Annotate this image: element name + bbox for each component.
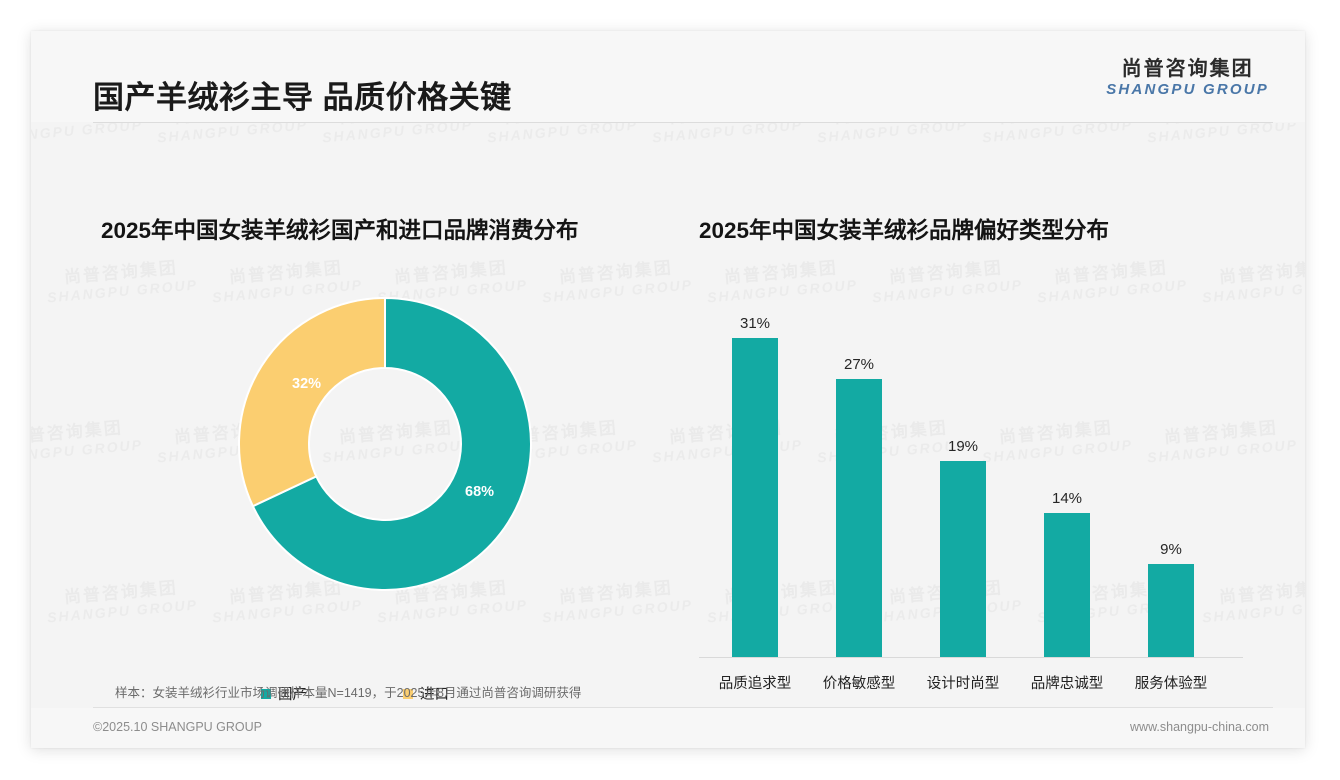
chart-panel-bars: 2025年中国女装羊绒衫品牌偏好类型分布 31%27%19%14%9% 品质追求…: [681, 123, 1281, 707]
bar-rect[interactable]: [836, 379, 882, 657]
bar-column[interactable]: 27%: [809, 356, 909, 657]
bar-value-label: 9%: [1121, 541, 1221, 558]
bar-rect[interactable]: [732, 338, 778, 657]
bar-column[interactable]: 31%: [705, 315, 805, 657]
bar-value-label: 31%: [705, 315, 805, 332]
bar-column[interactable]: 19%: [913, 438, 1013, 657]
brand-name-cn: 尚普咨询集团: [1106, 59, 1269, 80]
bar-x-label: 服务体验型: [1121, 672, 1221, 693]
bar-chart: 31%27%19%14%9% 品质追求型价格敏感型设计时尚型品牌忠诚型服务体验型: [699, 278, 1259, 658]
donut-slice-label-jinkou: 32%: [292, 376, 321, 392]
chart-panel-donut: 2025年中国女装羊绒衫国产和进口品牌消费分布 68% 32% 国产 进口: [71, 123, 681, 707]
bar-value-label: 19%: [913, 438, 1013, 455]
slide-card: 国产羊绒衫主导 品质价格关键 尚普咨询集团 SHANGPU GROUP 尚普咨询…: [31, 31, 1305, 748]
bar-rect[interactable]: [940, 461, 986, 657]
donut-svg: [237, 296, 533, 592]
brand-logo: 尚普咨询集团 SHANGPU GROUP: [1106, 59, 1269, 98]
bar-column[interactable]: 9%: [1121, 541, 1221, 657]
bar-x-label: 价格敏感型: [809, 672, 909, 693]
donut-chart-title: 2025年中国女装羊绒衫国产和进口品牌消费分布: [101, 213, 579, 245]
bar-column[interactable]: 14%: [1017, 490, 1117, 657]
bar-value-label: 27%: [809, 356, 909, 373]
footer-website[interactable]: www.shangpu-china.com: [1130, 720, 1269, 734]
slide-footer: ©2025.10 SHANGPU GROUP www.shangpu-china…: [31, 708, 1305, 748]
bar-chart-title: 2025年中国女装羊绒衫品牌偏好类型分布: [699, 213, 1109, 245]
bar-x-label: 设计时尚型: [913, 672, 1013, 693]
bar-rect[interactable]: [1044, 513, 1090, 657]
sample-note: 样本：女装羊绒衫行业市场调研样本量N=1419，于2025年8月通过尚普咨询调研…: [115, 682, 581, 701]
bar-rect[interactable]: [1148, 564, 1194, 657]
slide-header: 国产羊绒衫主导 品质价格关键 尚普咨询集团 SHANGPU GROUP: [31, 31, 1305, 122]
donut-slice-进口[interactable]: [239, 298, 385, 506]
bar-value-label: 14%: [1017, 490, 1117, 507]
page-title: 国产羊绒衫主导 品质价格关键: [93, 72, 512, 117]
donut-chart: 68% 32%: [237, 296, 533, 592]
bar-x-label: 品质追求型: [705, 672, 805, 693]
brand-name-en: SHANGPU GROUP: [1106, 82, 1269, 98]
bar-x-label: 品牌忠诚型: [1017, 672, 1117, 693]
donut-slice-label-guochan: 68%: [465, 484, 494, 500]
footer-copyright: ©2025.10 SHANGPU GROUP: [93, 720, 262, 734]
slide-content: 尚普咨询集团SHANGPU GROUP尚普咨询集团SHANGPU GROUP尚普…: [31, 123, 1305, 707]
bar-chart-axis-line: [699, 657, 1243, 658]
